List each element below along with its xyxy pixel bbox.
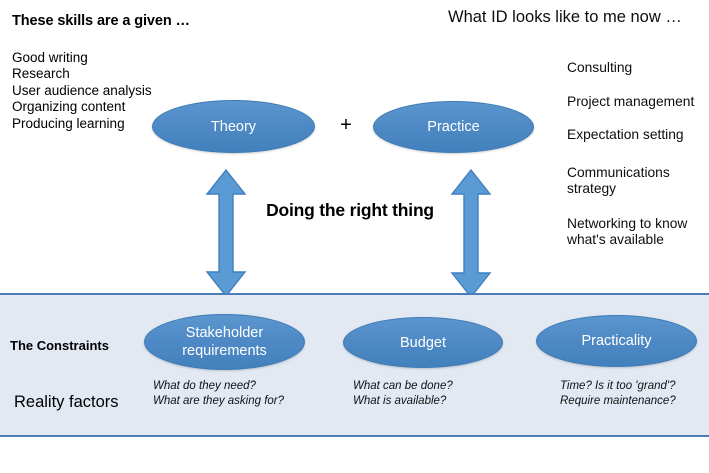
caption-line: Time? Is it too 'grand'? [560,379,676,394]
node-practicality[interactable]: Practicality [536,315,697,367]
node-stakeholder-label-line1: Stakeholder [182,324,267,342]
caption-practicality: Time? Is it too 'grand'? Require mainten… [560,379,676,408]
left-section-title: These skills are a given … [12,13,190,29]
list-item: Project management [567,94,709,111]
roles-list: Consulting Project management Expectatio… [567,60,709,266]
caption-line: What are they asking for? [153,394,284,409]
caption-stakeholder: What do they need? What are they asking … [153,379,284,408]
right-section-title: What ID looks like to me now … [448,8,682,27]
caption-line: What can be done? [353,379,453,394]
node-stakeholder-requirements[interactable]: Stakeholder requirements [144,314,305,370]
list-item: User audience analysis [12,83,152,99]
list-item: Organizing content [12,99,152,115]
list-item: Consulting [567,60,709,77]
double-arrow-left-icon [204,168,248,298]
reality-factors-label: Reality factors [14,393,119,412]
caption-line: Require maintenance? [560,394,676,409]
node-practice-label: Practice [427,118,479,136]
node-theory[interactable]: Theory [152,100,315,153]
caption-line: What is available? [353,394,453,409]
list-item: Networking to know what's available [567,216,709,249]
double-arrow-right-icon [449,168,493,299]
node-budget-label: Budget [400,334,446,352]
list-item: Expectation setting [567,127,709,144]
node-practicality-label: Practicality [581,332,651,350]
caption-budget: What can be done? What is available? [353,379,453,408]
node-practice[interactable]: Practice [373,101,534,153]
list-item: Producing learning [12,116,152,132]
plus-icon: + [337,114,355,137]
skills-list: Good writing Research User audience anal… [12,50,152,132]
list-item: Research [12,66,152,82]
node-stakeholder-label-line2: requirements [182,342,267,360]
center-caption: Doing the right thing [250,200,450,221]
constraints-section-label: The Constraints [10,338,109,353]
caption-line: What do they need? [153,379,284,394]
diagram-canvas: These skills are a given … What ID looks… [0,0,709,473]
node-budget[interactable]: Budget [343,317,503,368]
list-item: Communications strategy [567,165,709,198]
list-item: Good writing [12,50,152,66]
node-theory-label: Theory [211,118,256,136]
